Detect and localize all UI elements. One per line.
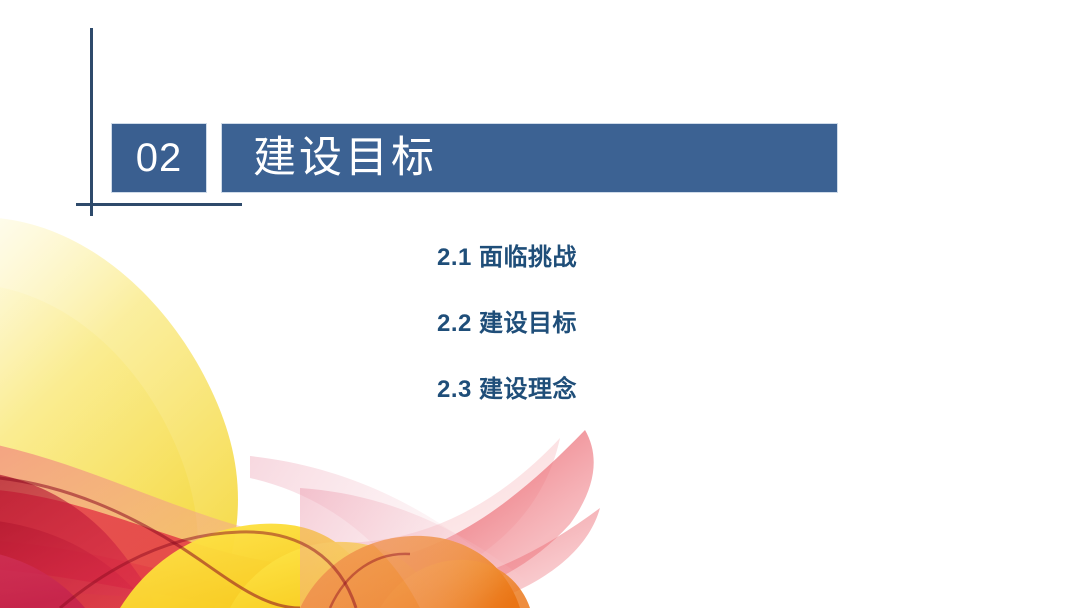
accent-rule-vertical <box>90 28 93 216</box>
agenda-item-2[interactable]: 2.2 建设目标 <box>437 312 577 336</box>
agenda-list: 2.1 面临挑战 2.2 建设目标 2.3 建设理念 <box>437 246 577 402</box>
slide-canvas: 02 建设目标 2.1 面临挑战 2.2 建设目标 2.3 建设理念 <box>0 0 1080 608</box>
section-title-label: 建设目标 <box>253 137 437 180</box>
section-title-banner: 建设目标 <box>222 124 837 192</box>
section-number-label: 02 <box>136 138 183 178</box>
agenda-item-3[interactable]: 2.3 建设理念 <box>437 378 577 402</box>
accent-rule-horizontal <box>76 203 242 206</box>
section-number-badge: 02 <box>112 124 206 192</box>
agenda-item-1[interactable]: 2.1 面临挑战 <box>437 246 577 270</box>
